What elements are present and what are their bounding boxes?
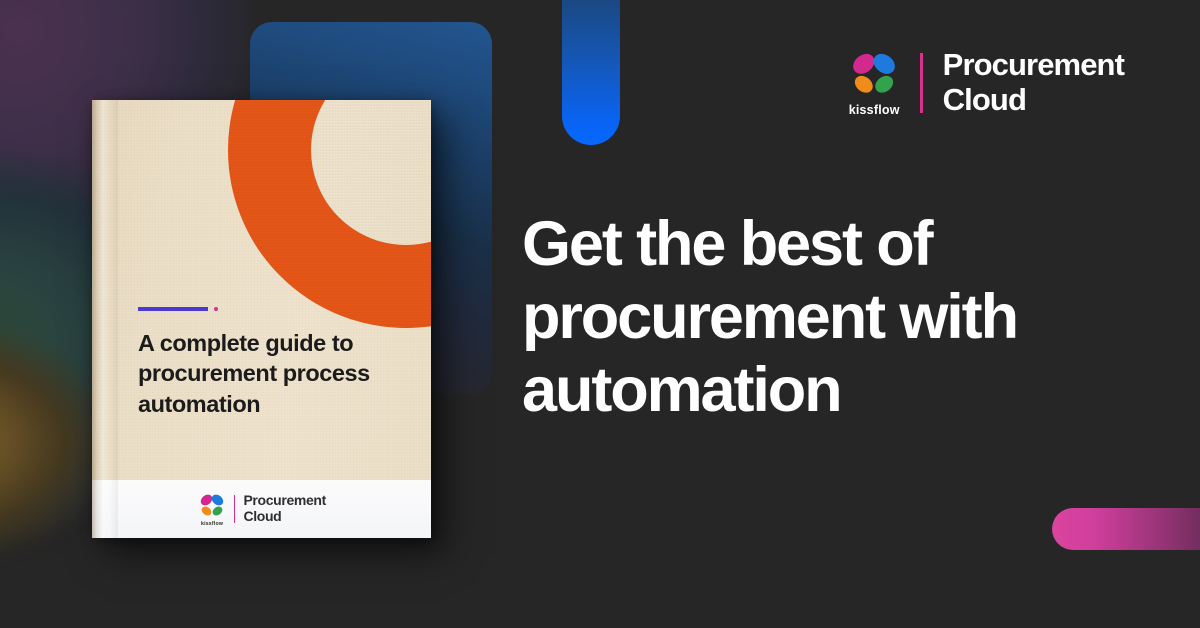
book-title: A complete guide to procurement process … xyxy=(138,328,410,419)
title-accent-rule xyxy=(138,307,208,311)
logo-divider xyxy=(920,53,923,113)
book-footer-logo-band: kissflow Procurement Cloud xyxy=(92,480,431,538)
book-cover-face xyxy=(92,100,431,480)
kissflow-wordmark: kissflow xyxy=(197,521,227,527)
blue-pill-decor xyxy=(562,0,620,145)
kissflow-butterfly-icon xyxy=(197,492,227,520)
pink-pill-decor xyxy=(1052,508,1200,550)
kissflow-logo-mark: kissflow xyxy=(846,49,902,117)
ebook-cover-mockup[interactable]: A complete guide to procurement process … xyxy=(92,100,431,538)
product-name-line2: Cloud xyxy=(943,83,1124,118)
kissflow-butterfly-icon xyxy=(846,49,902,101)
product-name-line1: Procurement xyxy=(943,48,1124,83)
book-spine xyxy=(92,100,118,538)
product-name-line1: Procurement xyxy=(243,493,326,509)
product-name: Procurement Cloud xyxy=(943,48,1124,117)
kissflow-logo-mark: kissflow xyxy=(197,492,227,527)
logo-divider xyxy=(234,495,235,523)
headline: Get the best of procurement with automat… xyxy=(522,208,1122,426)
orange-ring-shape-icon xyxy=(228,100,431,328)
book-title-block: A complete guide to procurement process … xyxy=(138,307,410,419)
product-name: Procurement Cloud xyxy=(243,493,326,525)
kissflow-wordmark: kissflow xyxy=(846,103,902,117)
header-brand-lockup[interactable]: kissflow Procurement Cloud xyxy=(846,48,1124,117)
product-name-line2: Cloud xyxy=(243,509,326,525)
kissflow-procurement-cloud-lockup: kissflow Procurement Cloud xyxy=(197,492,326,527)
ebook-promo-banner: A complete guide to procurement process … xyxy=(0,0,1200,628)
